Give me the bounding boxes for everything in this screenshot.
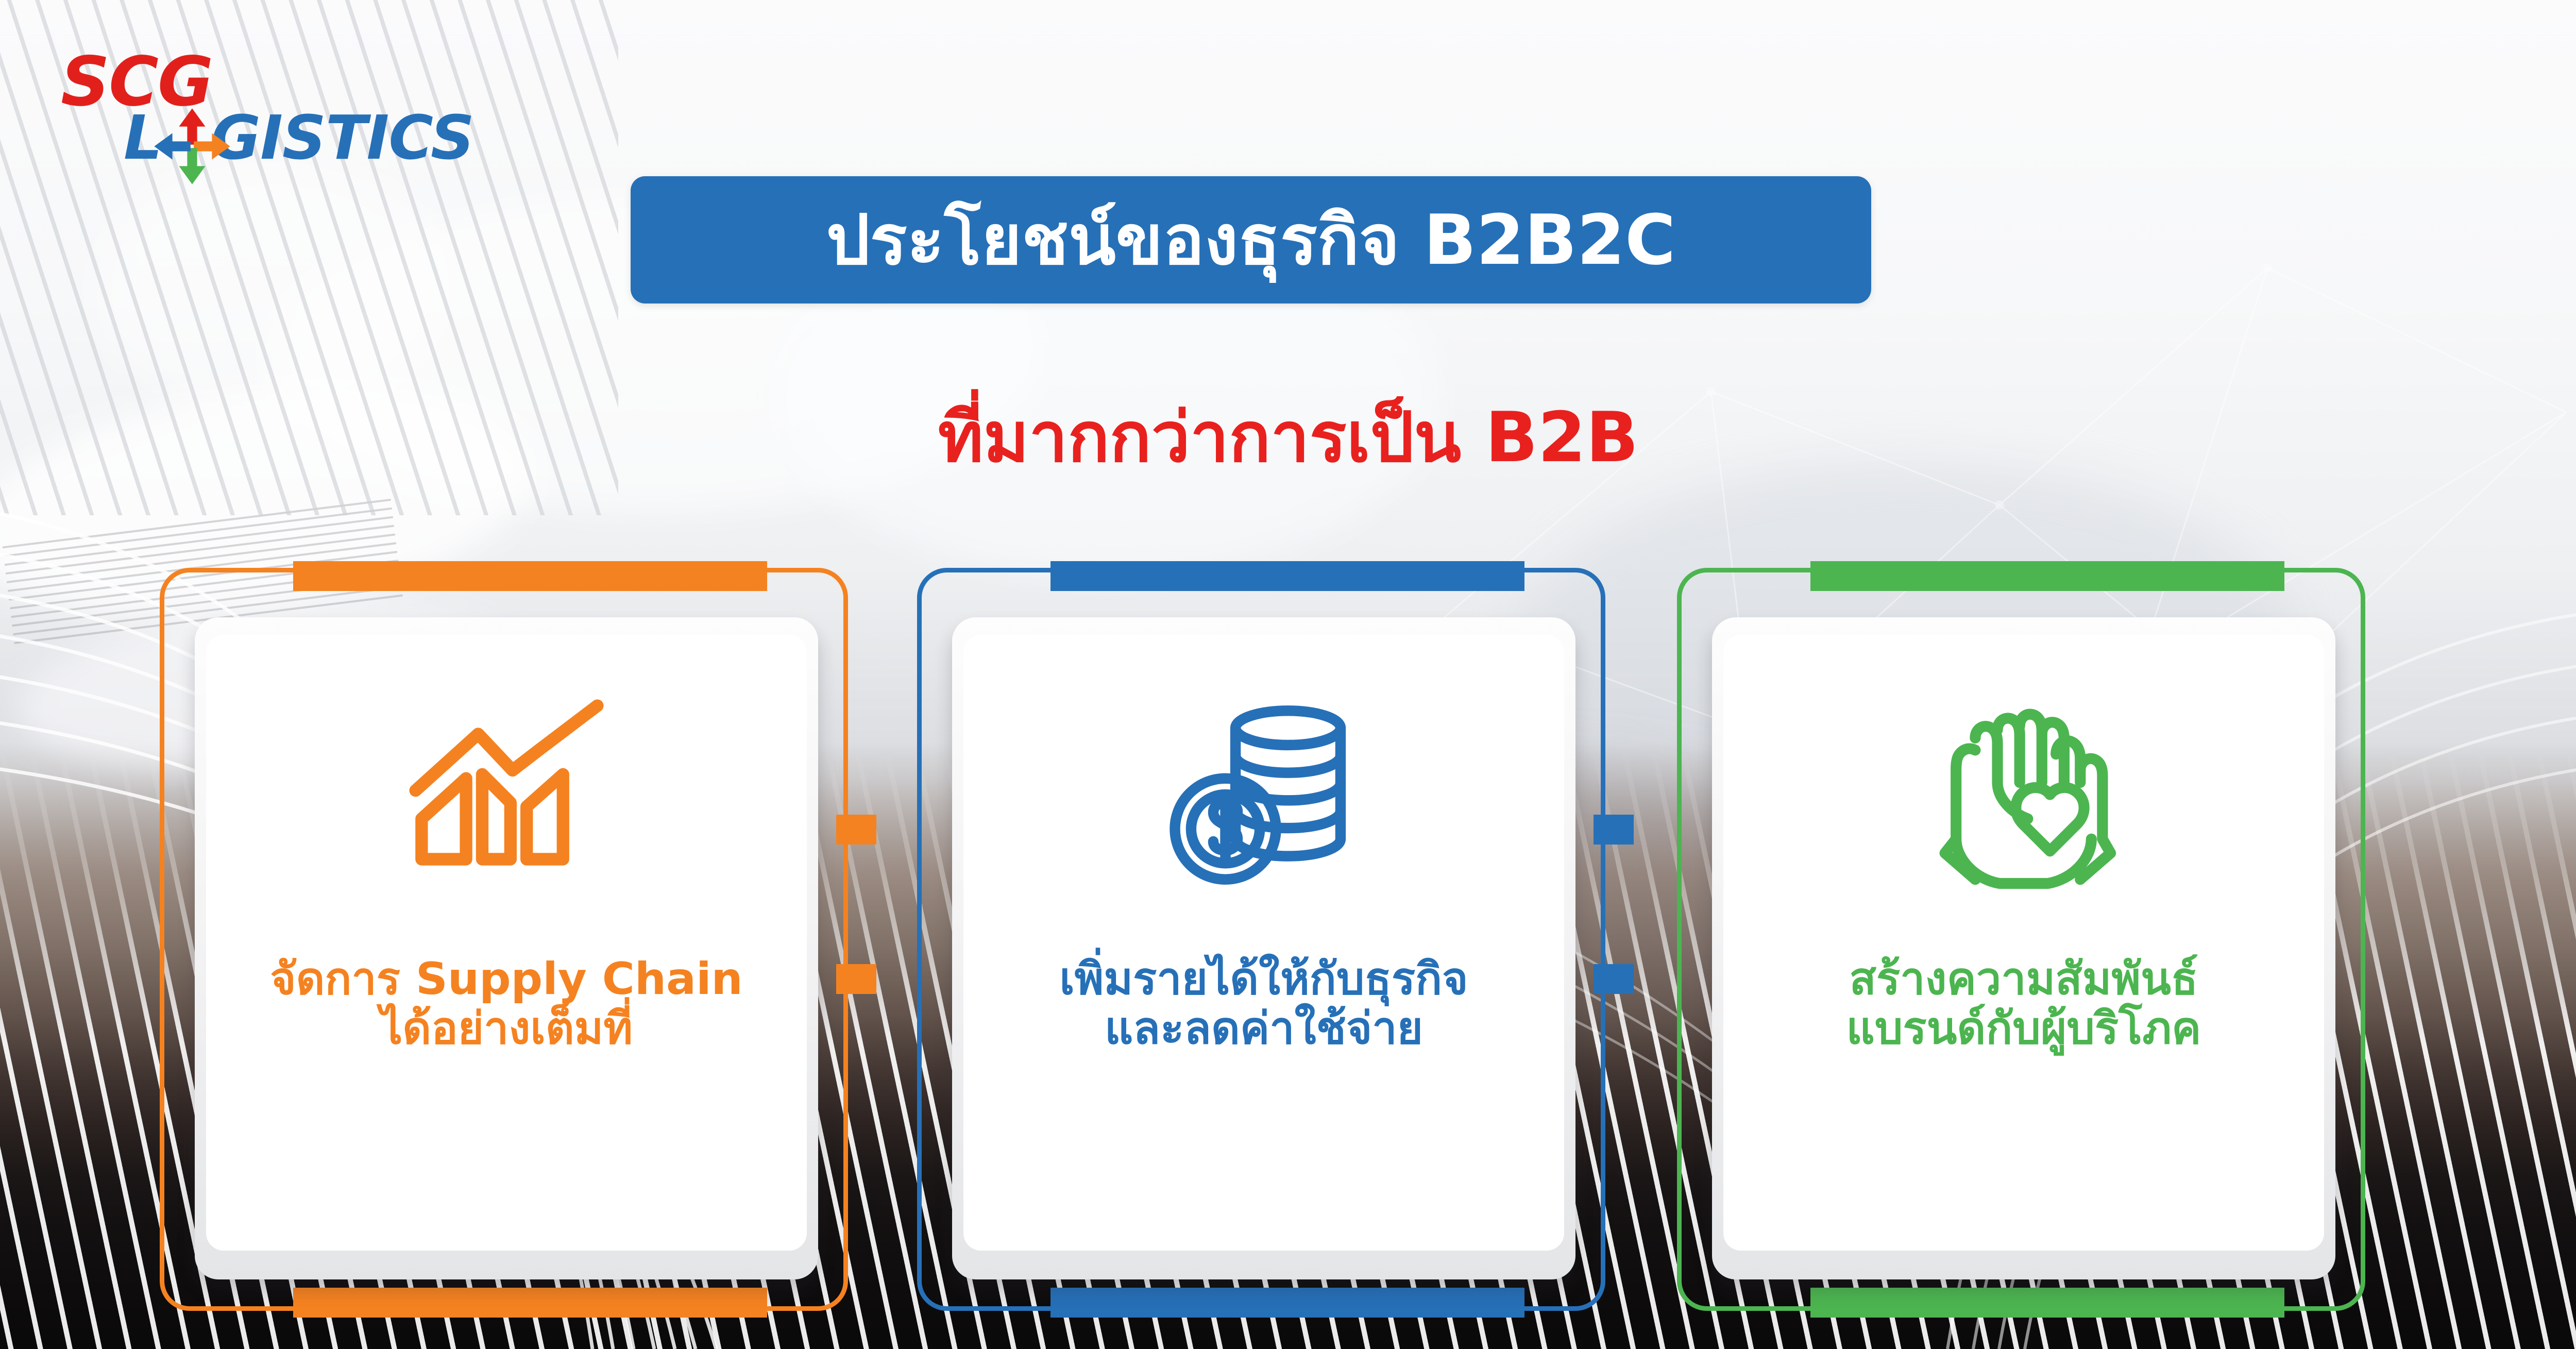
bar-chart-growth-icon xyxy=(405,694,607,896)
card-icon-wrap xyxy=(206,635,807,954)
card-panel: จัดการ Supply Chain ได้อย่างเต็มที่ xyxy=(195,617,818,1279)
card-caption-line2: ได้อย่างเต็มที่ xyxy=(206,1004,807,1053)
benefit-card-revenue[interactable]: เพิ่มรายได้ให้กับธุรกิจ และลดค่าใช้จ่าย xyxy=(917,562,1636,1335)
card-panel: เพิ่มรายได้ให้กับธุรกิจ และลดค่าใช้จ่าย xyxy=(952,617,1575,1279)
card-top-tab xyxy=(1050,561,1524,591)
benefit-cards: จัดการ Supply Chain ได้อย่างเต็มที่ xyxy=(0,0,2576,1349)
card-bottom-tab xyxy=(1810,1288,2284,1318)
card-caption-line1: จัดการ Supply Chain xyxy=(270,953,743,1005)
card-bottom-tab xyxy=(293,1288,767,1318)
card-top-tab xyxy=(293,561,767,591)
coin-stack-dollar-icon xyxy=(1163,694,1365,896)
card-caption-line1: สร้างความสัมพันธ์ xyxy=(1850,953,2198,1005)
card-connector-notch xyxy=(1594,815,1634,845)
card-panel: สร้างความสัมพันธ์ แบรนด์กับผู้บริโภค xyxy=(1712,617,2335,1279)
card-caption: จัดการ Supply Chain ได้อย่างเต็มที่ xyxy=(206,954,807,1054)
card-icon-wrap xyxy=(1723,635,2324,954)
card-bottom-tab xyxy=(1050,1288,1524,1318)
card-caption: เพิ่มรายได้ให้กับธุรกิจ และลดค่าใช้จ่าย xyxy=(963,954,1564,1054)
card-top-tab xyxy=(1810,561,2284,591)
card-connector-notch xyxy=(836,964,876,994)
card-connector-notch xyxy=(836,815,876,845)
card-panel-inner: เพิ่มรายได้ให้กับธุรกิจ และลดค่าใช้จ่าย xyxy=(963,635,1564,1251)
card-caption-line1: เพิ่มรายได้ให้กับธุรกิจ xyxy=(1059,953,1468,1005)
card-caption: สร้างความสัมพันธ์ แบรนด์กับผู้บริโภค xyxy=(1723,954,2324,1054)
benefit-card-supply-chain[interactable]: จัดการ Supply Chain ได้อย่างเต็มที่ xyxy=(160,562,878,1335)
card-caption-line2: และลดค่าใช้จ่าย xyxy=(963,1004,1564,1053)
benefit-card-brand-relationship[interactable]: สร้างความสัมพันธ์ แบรนด์กับผู้บริโภค xyxy=(1677,562,2396,1335)
card-panel-inner: สร้างความสัมพันธ์ แบรนด์กับผู้บริโภค xyxy=(1723,635,2324,1251)
hands-heart-icon xyxy=(1923,694,2125,896)
card-caption-line2: แบรนด์กับผู้บริโภค xyxy=(1723,1004,2324,1053)
card-connector-notch xyxy=(1594,964,1634,994)
card-icon-wrap xyxy=(963,635,1564,954)
card-panel-inner: จัดการ Supply Chain ได้อย่างเต็มที่ xyxy=(206,635,807,1251)
